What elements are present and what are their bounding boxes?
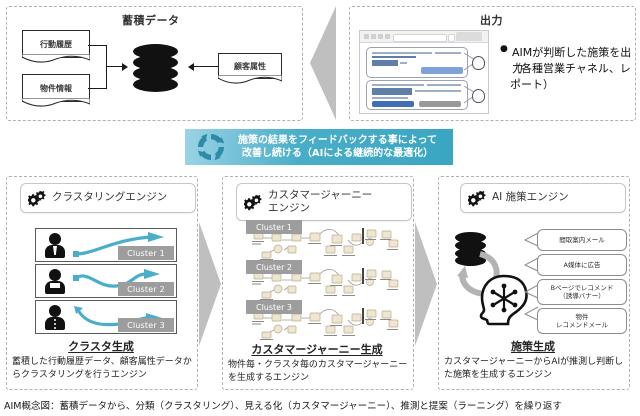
customer-eye-icon — [472, 89, 485, 103]
journey-row: Cluster 1 — [248, 222, 408, 262]
speech-tail-icon — [524, 232, 539, 248]
output-card-primary-button[interactable] — [372, 101, 414, 107]
feedback-line-2-suffix: ） — [423, 148, 433, 159]
measure-box: Bページでレコメンド （誘導バナー） — [537, 279, 627, 305]
double-gear-icon — [28, 190, 47, 207]
ai-measure-engine-label: AI 施策エンジン — [492, 191, 569, 204]
measure-label-line1: Bページでレコメンド — [548, 284, 617, 292]
speech-tail-icon — [524, 306, 539, 322]
feedback-banner: 施策の結果をフィードバックする事によって 改善し続ける（AIによる継続的な最適化… — [185, 129, 453, 165]
doc-behavior-history-label: 行動履歴 — [40, 39, 72, 50]
ai-measure-caption-body: カスタマージャーニーからAIが推測し判断した施策を生成するエンジン — [444, 356, 624, 382]
person-coat-icon — [44, 305, 66, 330]
placeholder-text — [400, 62, 407, 64]
journey-row: Cluster 2 — [248, 262, 408, 302]
output-message-card — [366, 80, 468, 110]
placeholder-text — [427, 84, 461, 86]
placeholder-heading — [372, 60, 398, 66]
measure-label: 物件 レコメンドメール — [550, 313, 614, 330]
output-card-button[interactable] — [421, 67, 463, 74]
browser-dot-icon — [364, 34, 369, 39]
right-triangle-arrow — [199, 222, 221, 346]
left-triangle-arrow — [310, 6, 336, 120]
placeholder-text — [372, 97, 408, 99]
measure-label: Bページでレコメンド （誘導バナー） — [545, 284, 620, 301]
journey-cluster-label: Cluster 1 — [246, 220, 302, 234]
clustering-engine-label: クラスタリングエンジン — [52, 191, 167, 204]
cluster-label: Cluster 1 — [118, 246, 174, 260]
doc-wave-edge — [22, 54, 90, 66]
feedback-line-2: 改善し続ける（AIによる継続的な最適化） — [228, 147, 447, 161]
journey-caption-title: カスタマージャーニー生成 — [222, 341, 412, 357]
placeholder-text — [435, 52, 461, 54]
browser-window-mock — [359, 30, 489, 114]
feedback-line-2-prefix: 改善し続ける（ — [242, 148, 312, 159]
measure-label: A媒体に広告 — [561, 261, 604, 269]
measure-label-line1: 物件 — [573, 313, 592, 321]
cluster-row: Cluster 1 — [35, 228, 177, 262]
measure-label-line2: （誘導バナー） — [556, 292, 608, 300]
browser-tab — [456, 32, 482, 41]
clustering-caption-title: クラスタ生成 — [6, 338, 196, 354]
placeholder-heading — [372, 88, 412, 95]
doc-wave-edge — [22, 98, 90, 110]
ai-measure-engine-header[interactable]: AI 施策エンジン — [460, 183, 626, 213]
doc-customer-attributes-label: 顧客属性 — [234, 61, 266, 72]
browser-url-bar[interactable] — [448, 34, 455, 42]
measure-box: A媒体に広告 — [537, 254, 627, 276]
doc-property-info: 物件情報 — [22, 74, 90, 102]
browser-dot-icon — [385, 34, 390, 39]
journey-engine-label: カスタマージャーニー エンジン — [268, 189, 372, 215]
browser-dot-icon — [378, 34, 383, 39]
doc-wave-edge — [218, 75, 282, 87]
cluster-label: Cluster 3 — [118, 318, 174, 332]
person-suit-icon — [44, 233, 66, 258]
speech-tail-icon — [524, 284, 539, 300]
output-card-secondary-button[interactable] — [419, 101, 461, 107]
journey-engine-label-line1: カスタマージャーニー — [268, 189, 372, 202]
placeholder-text — [372, 56, 416, 58]
output-bullet-icon: ● — [500, 44, 508, 54]
browser-url-bar[interactable] — [393, 34, 447, 42]
placeholder-text — [415, 90, 461, 92]
clustering-engine-header[interactable]: クラスタリングエンジン — [20, 183, 196, 213]
ai-measure-caption-title: 施策生成 — [438, 338, 628, 354]
output-desc-line2: （各種営業チャネル、レポート） — [510, 60, 640, 92]
journey-engine-header[interactable]: カスタマージャーニー エンジン — [236, 183, 412, 221]
recycle-loop-icon — [194, 130, 228, 164]
journey-cluster-label: Cluster 3 — [246, 300, 302, 314]
measure-box: 間取案内メール — [537, 229, 627, 251]
measure-label-line2: レコメンドメール — [553, 321, 611, 329]
measure-label: 間取案内メール — [556, 236, 608, 244]
cluster-row: Cluster 3 — [35, 300, 177, 334]
double-gear-icon — [468, 190, 487, 207]
database-cylinder-icon — [133, 44, 178, 92]
feedback-line-1: 施策の結果をフィードバックする事によって — [228, 134, 447, 148]
connector-line — [106, 66, 123, 67]
connector-line — [88, 45, 107, 46]
placeholder-text — [372, 84, 424, 86]
journey-engine-label-line2: エンジン — [268, 202, 372, 215]
connector-line — [88, 88, 107, 89]
placeholder-text — [372, 52, 432, 54]
right-triangle-arrow — [415, 222, 437, 346]
feedback-banner-text: 施策の結果をフィードバックする事によって 改善し続ける（AIによる継続的な最適化… — [228, 134, 453, 161]
journey-caption-body: 物件毎・クラスタ毎のカスタマージャーニーを生成するエンジン — [228, 359, 408, 385]
browser-dot-icon — [371, 34, 376, 39]
double-gear-icon — [244, 194, 263, 211]
doc-customer-attributes: 顧客属性 — [218, 53, 282, 79]
output-message-card — [366, 47, 468, 78]
arrow-to-database-icon — [122, 63, 128, 71]
person-apron-icon — [44, 269, 66, 294]
cluster-row: Cluster 2 — [35, 264, 177, 298]
accumulated-data-title: 蓄積データ — [122, 12, 180, 28]
measure-box: 物件 レコメンドメール — [537, 308, 627, 334]
journey-cluster-label: Cluster 2 — [246, 260, 302, 274]
cluster-label: Cluster 2 — [118, 282, 174, 296]
footer-caption: AIM概念図：蓄積データから、分類（クラスタリング）、見える化（カスタマージャー… — [4, 398, 640, 412]
journey-row: Cluster 3 — [248, 302, 408, 342]
doc-property-info-label: 物件情報 — [40, 83, 72, 94]
output-title: 出力 — [480, 12, 503, 28]
clustering-caption-body: 蓄積した行動履歴データ、顧客属性データからクラスタリングを行うエンジン — [12, 356, 192, 382]
connector-line — [194, 66, 218, 67]
doc-behavior-history: 行動履歴 — [22, 30, 90, 58]
feedback-line-2-bold: AIによる継続的な最適化 — [312, 148, 423, 159]
speech-tail-icon — [524, 257, 539, 273]
customer-eye-icon — [472, 56, 485, 70]
